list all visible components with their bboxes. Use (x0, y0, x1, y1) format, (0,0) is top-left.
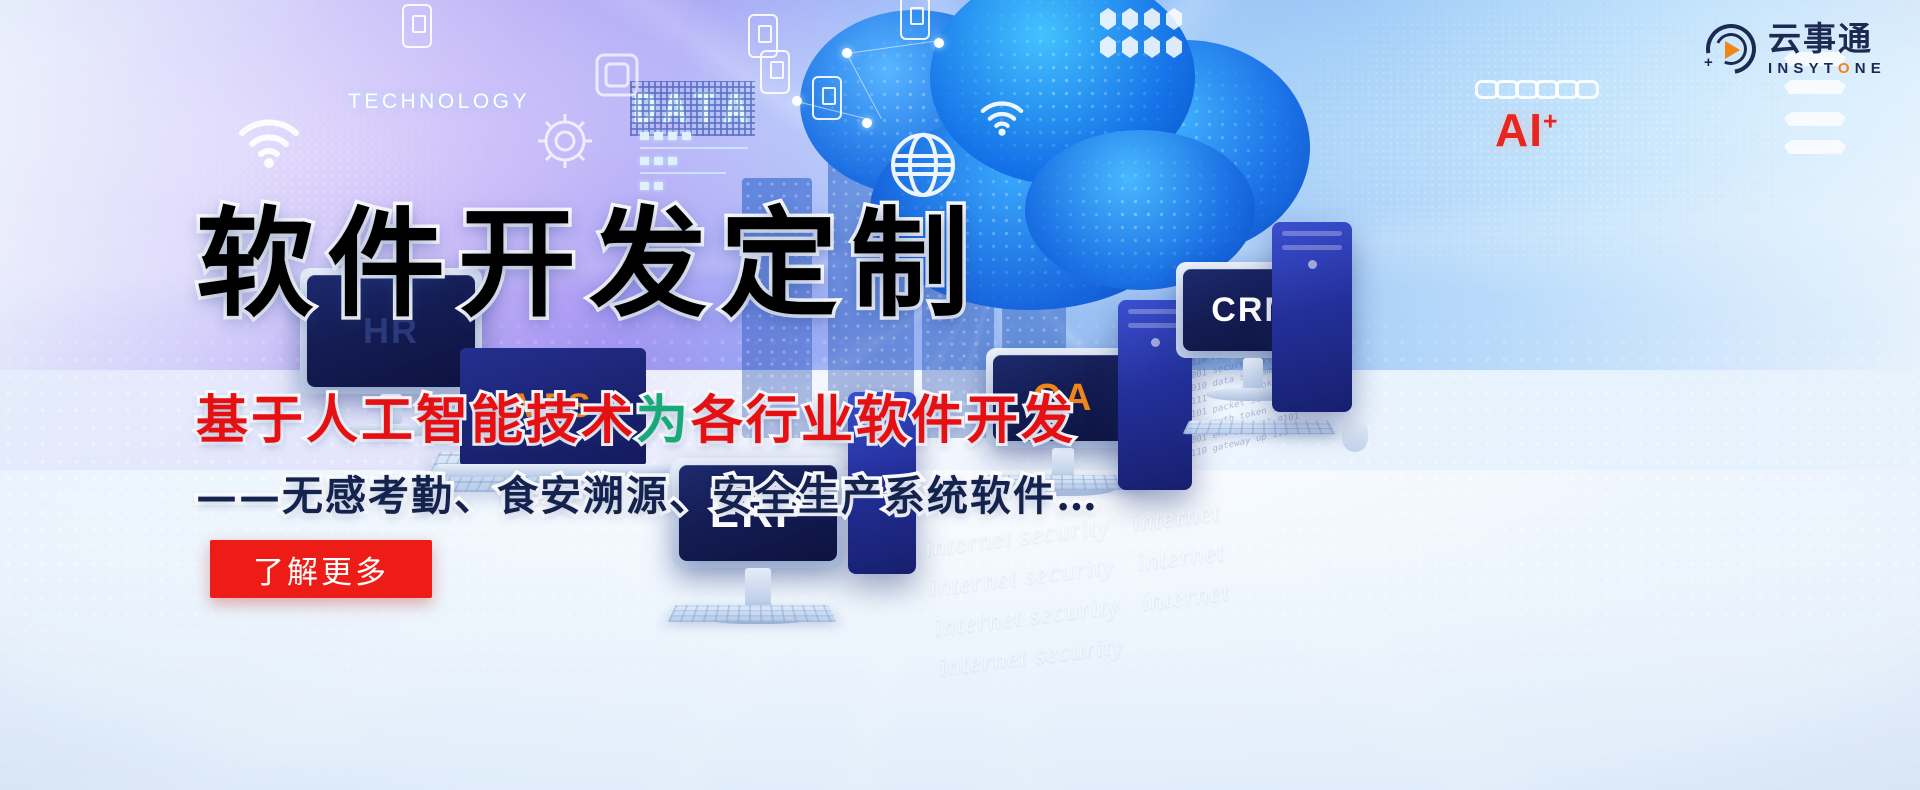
brand-logo[interactable]: + 云事通 INSYTONE (1706, 22, 1886, 76)
learn-more-button[interactable]: 了解更多 (210, 540, 432, 598)
subtitle-part-2: 为 (636, 390, 691, 451)
logo-en-o: O (1838, 60, 1855, 77)
logo-english-name: INSYTONE (1768, 61, 1886, 76)
subtitle-line-1: 基于人工智能技术为各行业软件开发 (196, 378, 1076, 453)
subtitle-part-1: 基于人工智能技术 (196, 390, 636, 451)
logo-en-part1: INSYT (1768, 60, 1838, 77)
hero-banner: 10110 network node 011001001 secure laye… (0, 0, 1920, 790)
subtitle-line-2: ——无感考勤、食安溯源、安全生产系统软件… (196, 462, 1099, 522)
logo-chinese-name: 云事通 (1768, 22, 1886, 55)
page-title: 软件开发定制 (196, 168, 982, 339)
logo-en-part2: NE (1855, 60, 1886, 77)
logo-wordmark: 云事通 INSYTONE (1768, 22, 1886, 76)
logo-mark-icon: + (1706, 24, 1756, 74)
subtitle-part-3: 各行业软件开发 (691, 390, 1076, 451)
